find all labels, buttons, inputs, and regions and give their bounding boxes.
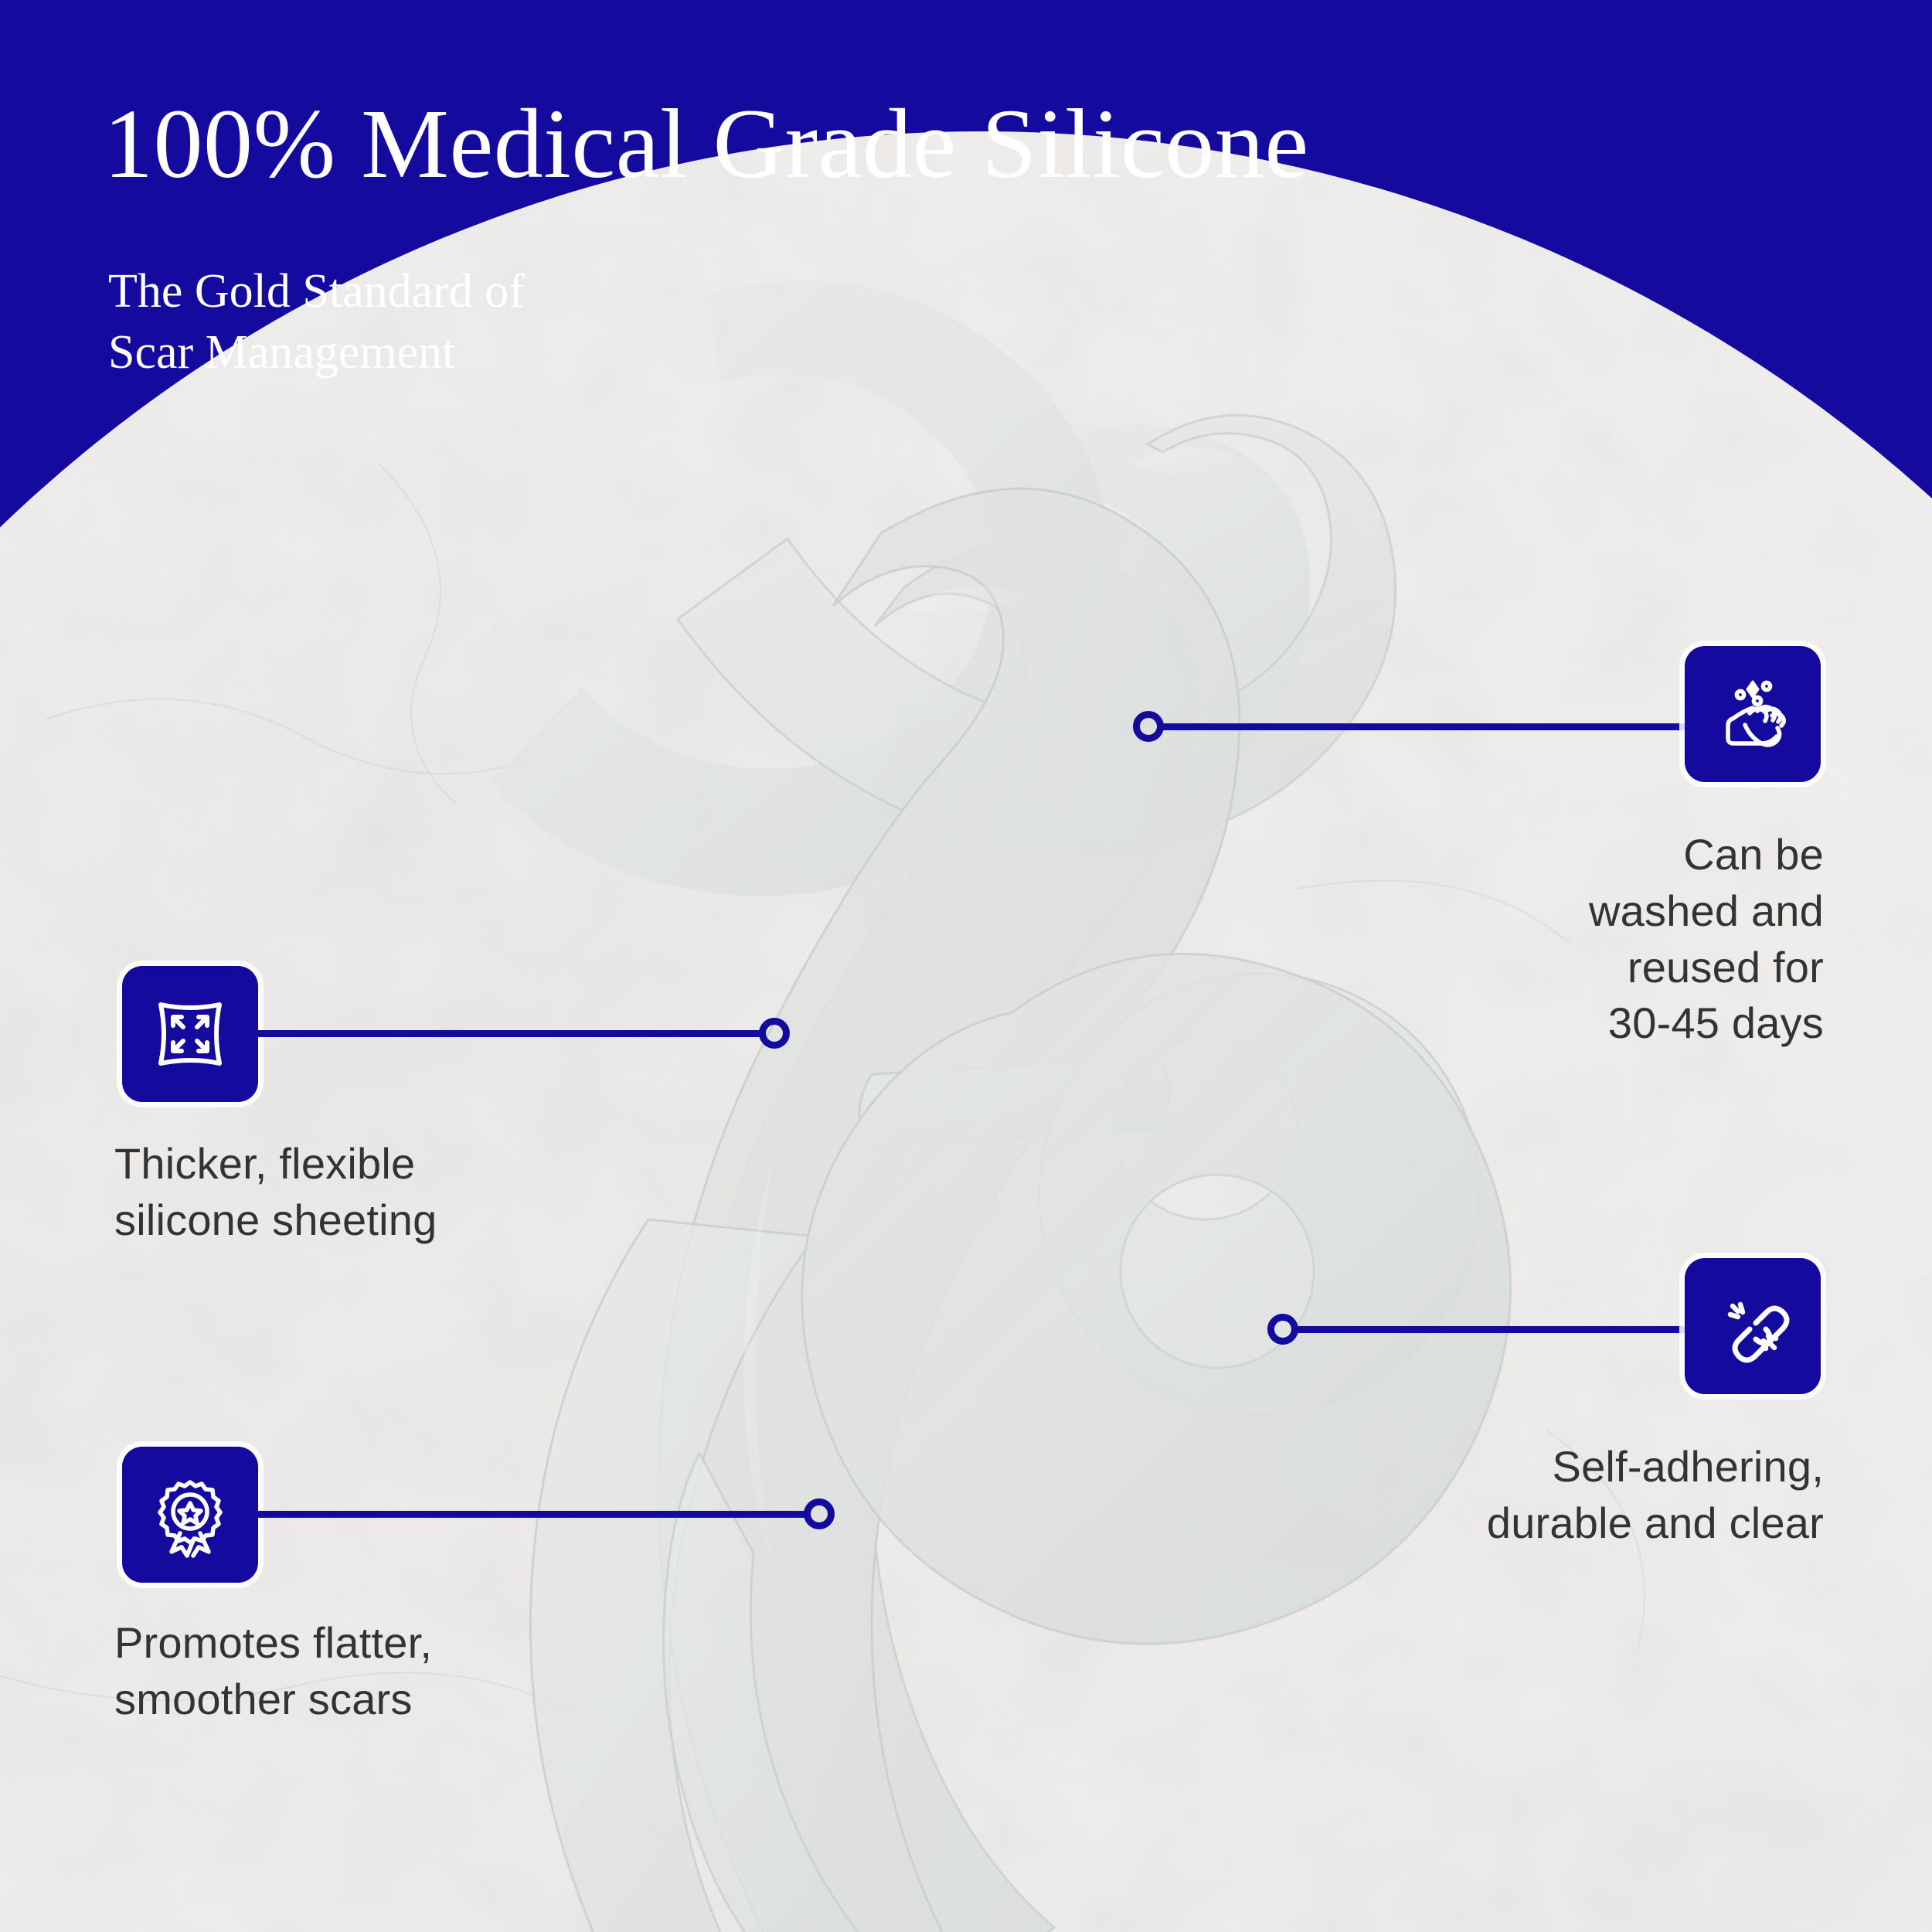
connector-line-self-adhering — [1294, 1326, 1688, 1333]
feature-caption-thicker-flexible: Thicker, flexible silicone sheeting — [114, 1136, 640, 1249]
connector-line-thicker-flexible — [255, 1030, 765, 1037]
infographic-canvas: 100% Medical Grade Silicone The Gold Sta… — [0, 0, 1932, 1932]
stretch-arrows-icon — [122, 966, 258, 1102]
page-title: 100% Medical Grade Silicone — [104, 93, 1309, 196]
connector-line-washed-reused — [1159, 723, 1688, 730]
page-subtitle: The Gold Standard of Scar Management — [108, 261, 525, 384]
award-ribbon-icon — [122, 1447, 258, 1583]
feature-caption-flatter-smoother: Promotes flatter, smoother scars — [114, 1615, 655, 1728]
connector-dot-flatter-smoother — [804, 1498, 835, 1529]
connector-dot-thicker-flexible — [759, 1018, 790, 1049]
feature-caption-washed-reused: Can be washed and reused for 30-45 days — [1391, 827, 1824, 1052]
feature-caption-self-adhering: Self-adhering, durable and clear — [1314, 1439, 1824, 1552]
adhesive-link-icon — [1685, 1258, 1821, 1394]
washing-hands-icon — [1685, 646, 1821, 782]
connector-line-flatter-smoother — [255, 1511, 810, 1518]
